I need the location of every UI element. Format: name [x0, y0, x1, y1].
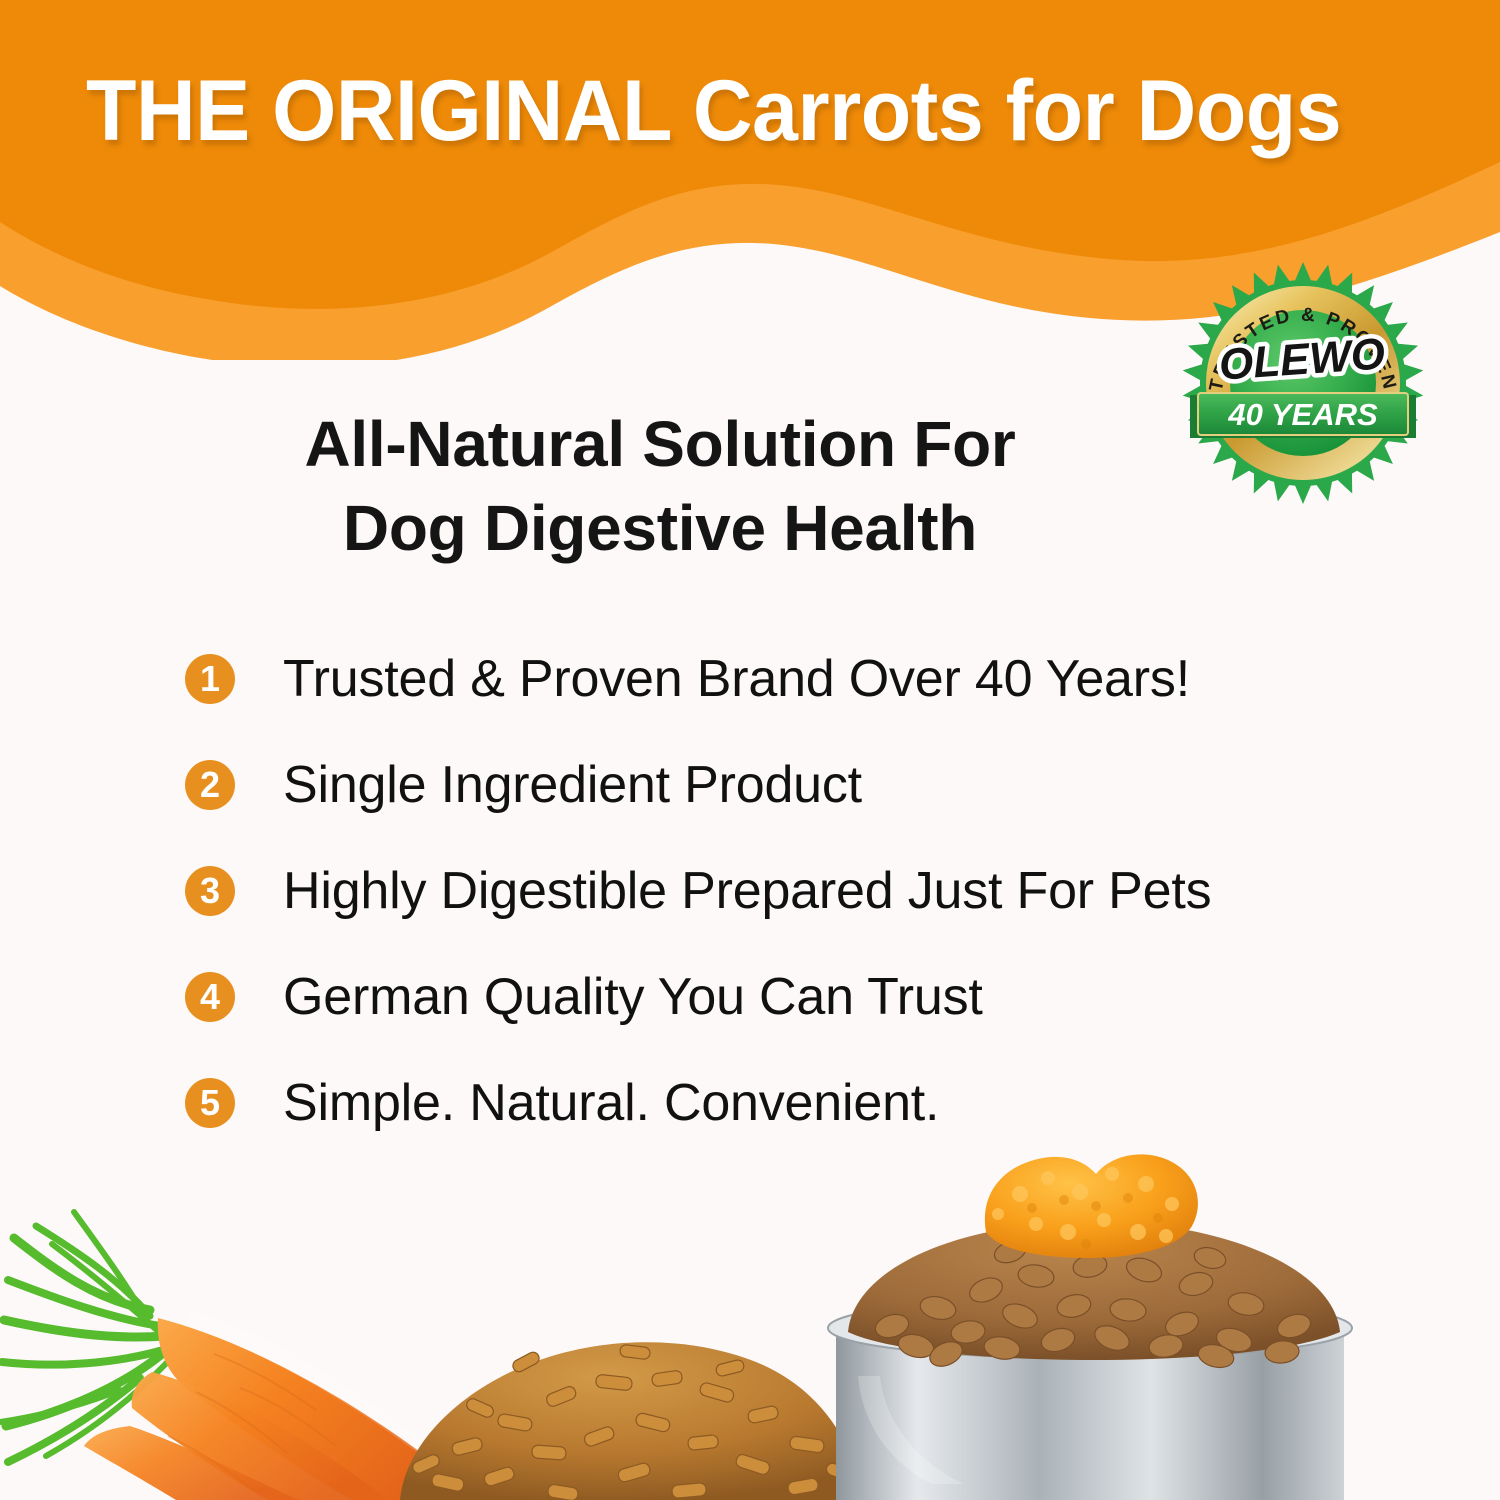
subheading: All-Natural Solution For Dog Digestive H… — [160, 402, 1160, 571]
benefit-text: Simple. Natural. Convenient. — [283, 1072, 1385, 1134]
subheading-line-1: All-Natural Solution For — [160, 402, 1160, 486]
badge-ribbon: 40 YEARS — [1190, 393, 1416, 438]
benefit-text: Trusted & Proven Brand Over 40 Years! — [283, 648, 1385, 710]
subheading-line-2: Dog Digestive Health — [160, 486, 1160, 570]
benefit-number-badge: 4 — [185, 972, 235, 1022]
benefit-text: German Quality You Can Trust — [283, 966, 1385, 1028]
benefit-text: Highly Digestible Prepared Just For Pets — [283, 860, 1385, 922]
benefit-number-badge: 1 — [185, 654, 235, 704]
benefit-number-badge: 3 — [185, 866, 235, 916]
list-item: 3 Highly Digestible Prepared Just For Pe… — [185, 860, 1385, 966]
trusted-proven-badge: TRUSTED & PROVEN ★ ★ OLEWO OLEWO 40 YEAR… — [1182, 262, 1424, 504]
benefit-text: Single Ingredient Product — [283, 754, 1385, 816]
list-item: 2 Single Ingredient Product — [185, 754, 1385, 860]
benefit-number-badge: 5 — [185, 1078, 235, 1128]
product-infographic: THE ORIGINAL Carrots for Dogs — [0, 0, 1500, 1500]
benefits-list: 1 Trusted & Proven Brand Over 40 Years! … — [185, 648, 1385, 1178]
product-photo-band — [0, 1140, 1500, 1500]
page-title: THE ORIGINAL Carrots for Dogs — [86, 68, 1372, 154]
list-item: 4 German Quality You Can Trust — [185, 966, 1385, 1072]
badge-ribbon-text: 40 YEARS — [1227, 397, 1378, 432]
list-item: 1 Trusted & Proven Brand Over 40 Years! — [185, 648, 1385, 754]
benefit-number-badge: 2 — [185, 760, 235, 810]
list-item: 5 Simple. Natural. Convenient. — [185, 1072, 1385, 1178]
